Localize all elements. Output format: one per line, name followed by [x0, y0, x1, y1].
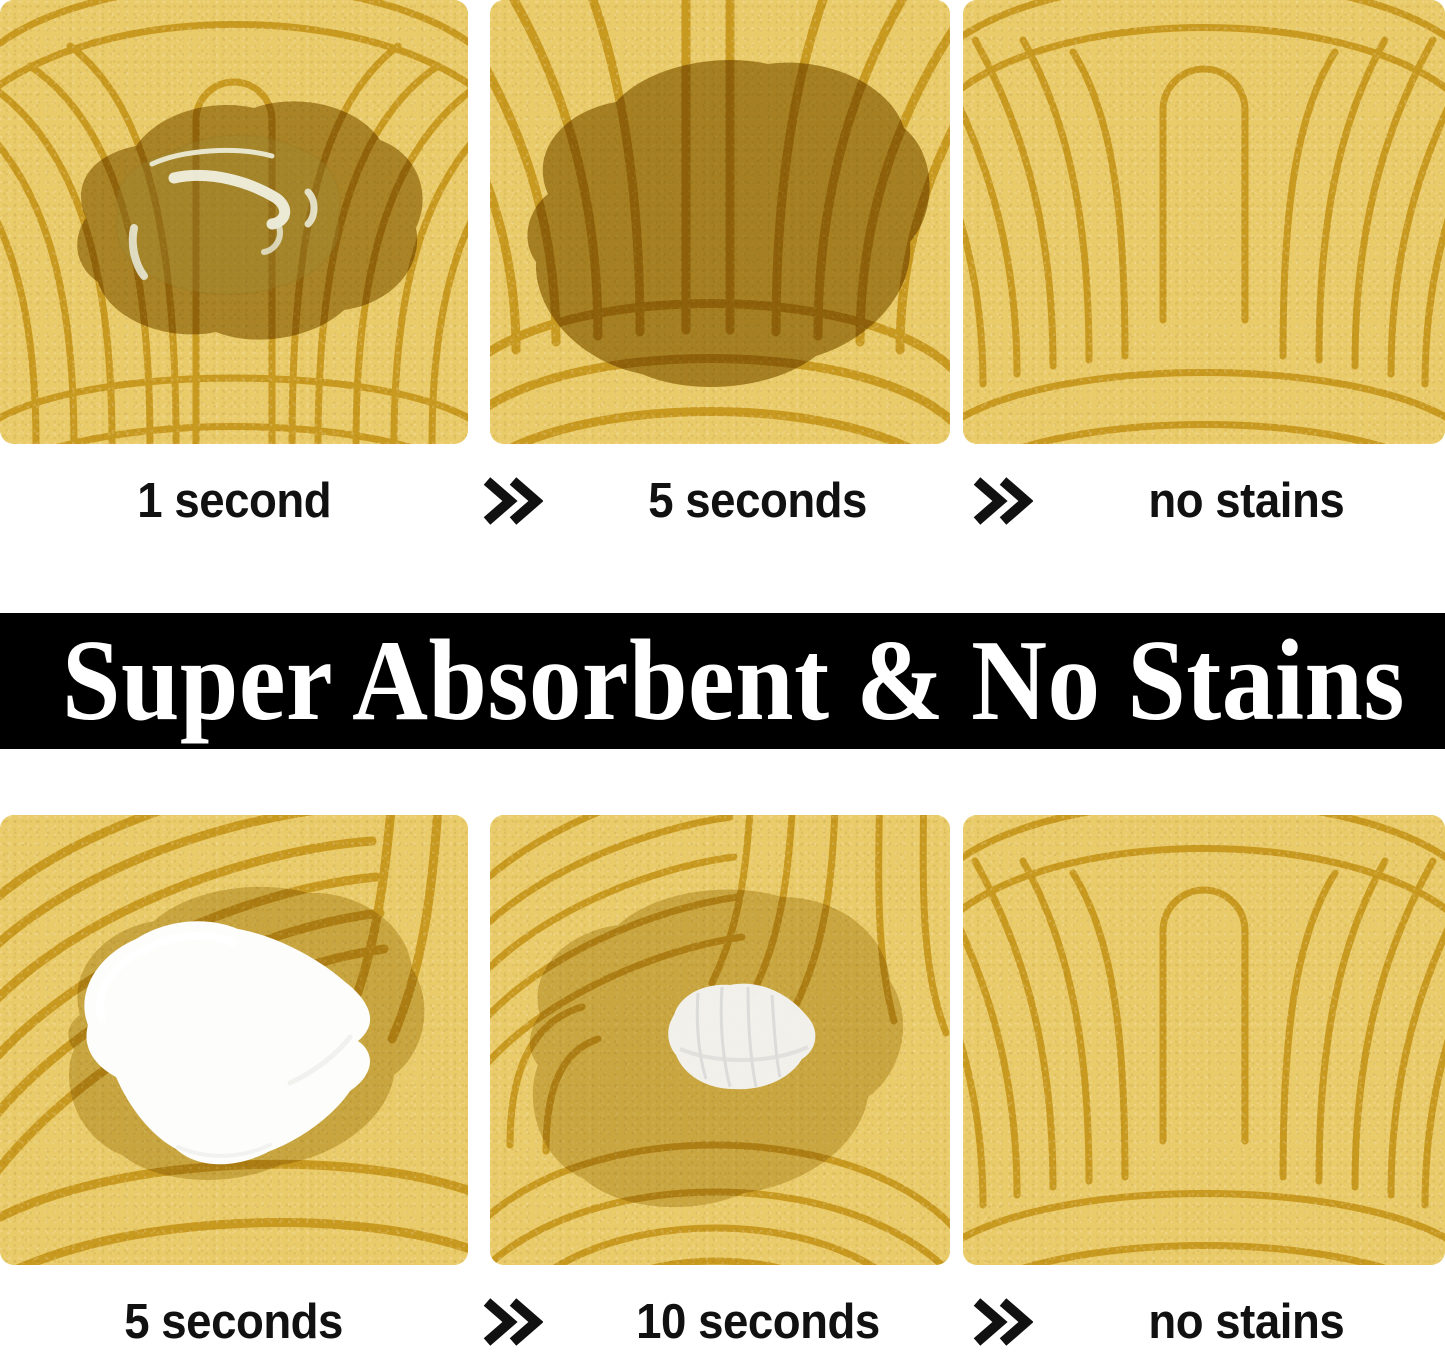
caption-water-5-seconds: 5 seconds [649, 477, 868, 526]
caption-cell: 5 seconds [558, 462, 958, 540]
caption-water-1-second: 1 second [137, 477, 331, 526]
bath-mat-surface [0, 815, 468, 1265]
caption-milk-no-stains: no stains [1149, 1298, 1345, 1347]
page-title: Super Absorbent & No Stains [62, 623, 1405, 738]
water-sequence-captions: 1 second 5 seconds no stains [0, 462, 1445, 540]
caption-milk-10-seconds: 10 seconds [636, 1298, 880, 1347]
caption-cell: no stains [1048, 1283, 1445, 1361]
arch-pattern [0, 815, 468, 1265]
arch-pattern [490, 815, 950, 1265]
water-absorption-image-row [0, 0, 1445, 444]
chevron-right-double-icon [483, 1297, 543, 1347]
arch-pattern [963, 815, 1445, 1265]
caption-cell: 5 seconds [0, 1283, 468, 1361]
caption-cell: 10 seconds [558, 1283, 958, 1361]
chevron-right-double-icon [483, 476, 543, 526]
panel-milk-no-stains [963, 815, 1445, 1265]
bath-mat-surface [490, 0, 950, 444]
arch-pattern [963, 0, 1445, 444]
panel-water-1-second [0, 0, 468, 444]
separator-cell [468, 462, 558, 540]
product-feature-graphic: 1 second 5 seconds no stains Super Absor… [0, 0, 1445, 1353]
bath-mat-surface [963, 815, 1445, 1265]
arch-pattern [490, 0, 950, 444]
milk-absorption-image-row [0, 815, 1445, 1265]
bath-mat-surface [0, 0, 468, 444]
caption-water-no-stains: no stains [1149, 477, 1345, 526]
separator-cell [958, 462, 1048, 540]
milk-sequence-captions: 5 seconds 10 seconds no stains [0, 1283, 1445, 1361]
arch-pattern [0, 0, 468, 444]
panel-milk-5-seconds [0, 815, 468, 1265]
panel-milk-10-seconds [490, 815, 950, 1265]
panel-water-5-seconds [490, 0, 950, 444]
caption-milk-5-seconds: 5 seconds [125, 1298, 344, 1347]
panel-water-no-stains [963, 0, 1445, 444]
chevron-right-double-icon [973, 476, 1033, 526]
chevron-right-double-icon [973, 1297, 1033, 1347]
bath-mat-surface [490, 815, 950, 1265]
separator-cell [468, 1283, 558, 1361]
separator-cell [958, 1283, 1048, 1361]
title-banner: Super Absorbent & No Stains [0, 613, 1445, 749]
caption-cell: 1 second [0, 462, 468, 540]
caption-cell: no stains [1048, 462, 1445, 540]
bath-mat-surface [963, 0, 1445, 444]
